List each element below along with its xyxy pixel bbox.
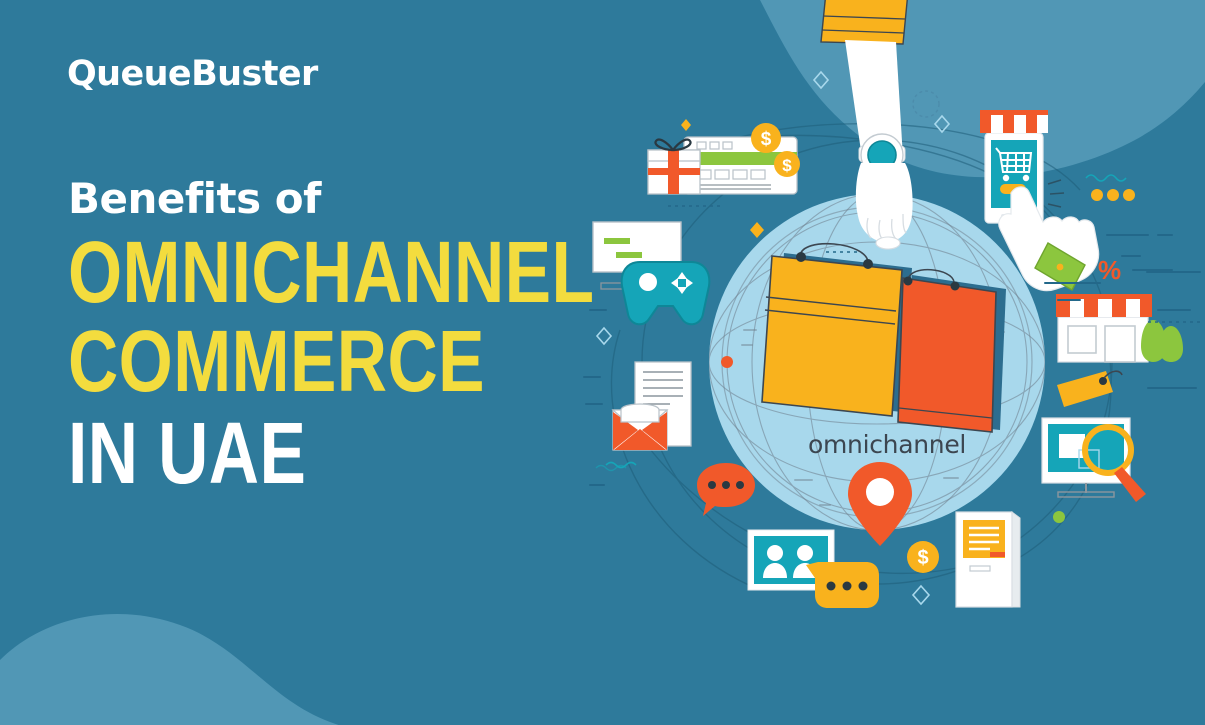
decor-dashed-circle	[913, 91, 939, 117]
decor-zigzag	[1086, 175, 1126, 181]
decor-dots	[1091, 189, 1135, 201]
headline-kicker: Benefits of	[68, 178, 628, 220]
tree-icon	[1141, 320, 1183, 362]
monitor-search-icon	[1042, 418, 1146, 502]
percent-symbol: %	[1098, 255, 1121, 286]
svg-text:$: $	[761, 129, 772, 150]
globe-marker-dot	[721, 356, 733, 368]
price-tag-icon	[1057, 371, 1122, 407]
dollar-coin-icon: $	[907, 541, 939, 573]
headline-line-2: COMMERCE	[68, 321, 516, 404]
location-pin-icon	[848, 462, 912, 546]
omnichannel-label: omnichannel	[808, 430, 966, 459]
poster-canvas: $ $ $	[0, 0, 1205, 725]
awning-icon	[1056, 294, 1152, 317]
headline-line-3: IN UAE	[68, 413, 516, 496]
chat-bubble-yellow-icon	[806, 562, 879, 608]
storefront-icon	[1056, 294, 1183, 362]
shopping-bag-yellow-icon	[762, 244, 912, 416]
headline-block: Benefits of OMNICHANNEL COMMERCE IN UAE	[68, 178, 628, 496]
headline-line-1: OMNICHANNEL	[68, 232, 516, 315]
dollar-coin-icon: $	[751, 123, 781, 153]
awning-icon	[980, 110, 1048, 133]
kiosk-icon	[956, 512, 1020, 607]
tap-lines	[1048, 180, 1064, 207]
chat-bubble-orange-icon	[697, 463, 755, 516]
dollar-coin-icon: $	[774, 151, 800, 177]
svg-text:$: $	[917, 547, 928, 569]
shopping-bag-orange-icon	[898, 270, 1006, 432]
game-controller-icon	[622, 262, 710, 324]
svg-text:$: $	[782, 156, 792, 175]
decor-green-dot	[1053, 511, 1065, 523]
brand-logo[interactable]: QueueBuster	[67, 57, 318, 92]
